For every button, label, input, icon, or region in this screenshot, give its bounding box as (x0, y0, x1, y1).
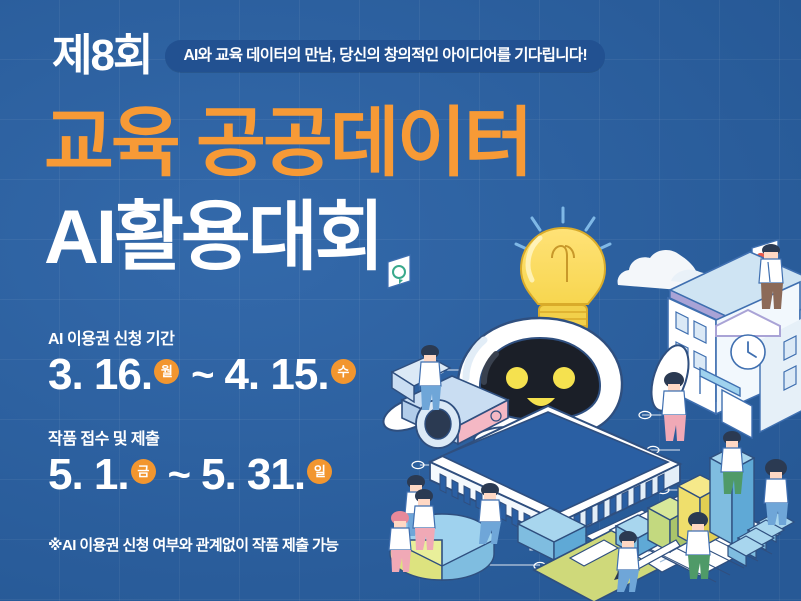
end-date: 5. 31. (201, 453, 305, 497)
person-figure (419, 345, 441, 410)
schedule-label: 작품 접수 및 제출 (48, 430, 334, 449)
subtitle-pill: AI와 교육 데이터의 만남, 당신의 창의적인 아이디어를 기다립니다! (165, 40, 605, 73)
start-date: 3. 16. (48, 353, 152, 397)
footnote: ※AI 이용권 신청 여부와 관계없이 작품 제출 가능 (48, 534, 338, 555)
header-row: 제8회 AI와 교육 데이터의 만남, 당신의 창의적인 아이디어를 기다립니다… (52, 34, 605, 78)
ai-education-illustration (380, 200, 801, 601)
schedule-label: AI 이용권 신청 기간 (48, 330, 358, 349)
start-day-badge: 금 (131, 459, 156, 484)
end-date: 4. 15. (224, 353, 328, 397)
person-figure (662, 372, 686, 441)
person-figure (389, 511, 411, 572)
date-separator: ~ (191, 355, 214, 395)
poster-root: 제8회 AI와 교육 데이터의 만남, 당신의 창의적인 아이디어를 기다립니다… (0, 0, 801, 601)
chat-bubble-icon (388, 255, 410, 288)
title-line-2: AI활용대회 (44, 200, 382, 276)
date-separator: ~ (168, 455, 191, 495)
end-day-badge: 수 (331, 359, 356, 384)
title-line-1: 교육 공공데이터 (44, 106, 531, 182)
edition-label: 제8회 (52, 34, 151, 78)
person-figure (764, 459, 788, 525)
schedule-block-submission: 작품 접수 및 제출 5. 1. 금 ~ 5. 31. 일 (48, 430, 334, 497)
person-figure (721, 431, 743, 494)
schedule-dates: 5. 1. 금 ~ 5. 31. 일 (48, 453, 334, 497)
end-day-badge: 일 (307, 459, 332, 484)
person-figure (413, 489, 435, 550)
start-date: 5. 1. (48, 453, 129, 497)
start-day-badge: 월 (154, 359, 179, 384)
schedule-block-application: AI 이용권 신청 기간 3. 16. 월 ~ 4. 15. 수 (48, 330, 358, 397)
schedule-dates: 3. 16. 월 ~ 4. 15. 수 (48, 353, 358, 397)
person-figure (686, 512, 710, 579)
